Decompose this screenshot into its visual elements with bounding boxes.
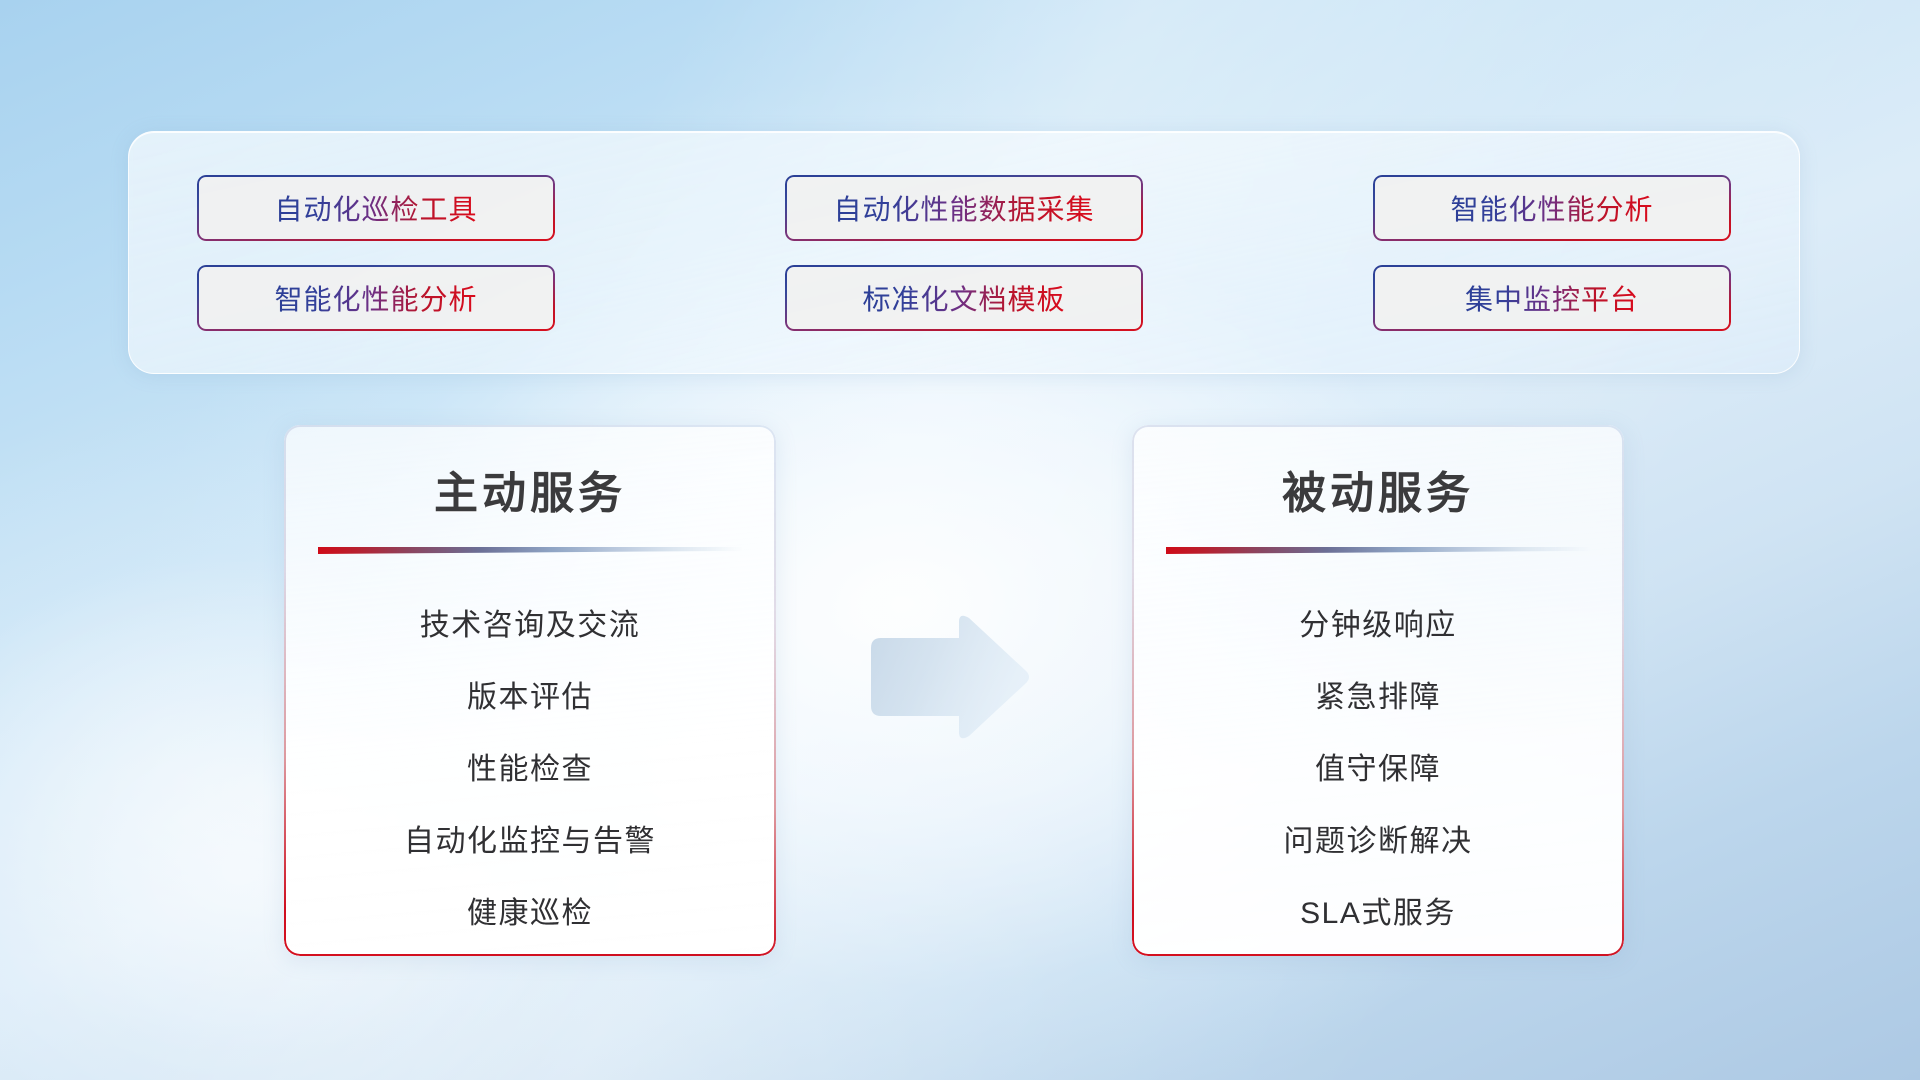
chip-automated-performance-data-collection[interactable]: 自动化性能数据采集 [785, 175, 1143, 241]
card-title: 主动服务 [284, 457, 776, 521]
card-divider [1166, 547, 1590, 554]
chip-standardized-document-template[interactable]: 标准化文档模板 [785, 265, 1143, 331]
chip-label: 智能化性能分析 [274, 278, 477, 318]
chip-row-1: 自动化巡检工具 自动化性能数据采集 智能化性能分析 [197, 175, 1731, 241]
chip-centralized-monitoring-platform[interactable]: 集中监控平台 [1373, 265, 1731, 331]
chip-automated-inspection-tool[interactable]: 自动化巡检工具 [197, 175, 555, 241]
list-item: 版本评估 [284, 662, 776, 734]
chip-label: 集中监控平台 [1465, 278, 1639, 318]
chip-label: 自动化巡检工具 [274, 188, 477, 228]
service-card-proactive: 主动服务 技术咨询及交流 版本评估 性能检查 自动化监控与告警 健康巡检 [284, 425, 776, 956]
chip-label: 智能化性能分析 [1450, 188, 1653, 228]
service-list-reactive: 分钟级响应 紧急排障 值守保障 问题诊断解决 SLA式服务 [1132, 590, 1624, 950]
chip-label: 自动化性能数据采集 [833, 188, 1094, 228]
chip-row-2: 智能化性能分析 标准化文档模板 集中监控平台 [197, 265, 1731, 331]
list-item: 分钟级响应 [1132, 590, 1624, 662]
list-item: 性能检查 [284, 734, 776, 806]
right-arrow-icon [863, 610, 1033, 745]
card-title: 被动服务 [1132, 457, 1624, 521]
chip-label: 标准化文档模板 [862, 278, 1065, 318]
list-item: 自动化监控与告警 [284, 806, 776, 878]
card-divider [318, 547, 742, 554]
list-item: 技术咨询及交流 [284, 590, 776, 662]
list-item: 紧急排障 [1132, 662, 1624, 734]
list-item: 健康巡检 [284, 878, 776, 950]
list-item: 值守保障 [1132, 734, 1624, 806]
capability-chip-panel: 自动化巡检工具 自动化性能数据采集 智能化性能分析 智能化性能分析 标准化文档模… [128, 131, 1800, 374]
list-item: 问题诊断解决 [1132, 806, 1624, 878]
list-item: SLA式服务 [1132, 878, 1624, 950]
service-list-proactive: 技术咨询及交流 版本评估 性能检查 自动化监控与告警 健康巡检 [284, 590, 776, 950]
slide-canvas: 自动化巡检工具 自动化性能数据采集 智能化性能分析 智能化性能分析 标准化文档模… [0, 0, 1920, 1080]
chip-intelligent-performance-analysis[interactable]: 智能化性能分析 [1373, 175, 1731, 241]
service-card-reactive: 被动服务 分钟级响应 紧急排障 值守保障 问题诊断解决 SLA式服务 [1132, 425, 1624, 956]
chip-intelligent-performance-analysis-2[interactable]: 智能化性能分析 [197, 265, 555, 331]
